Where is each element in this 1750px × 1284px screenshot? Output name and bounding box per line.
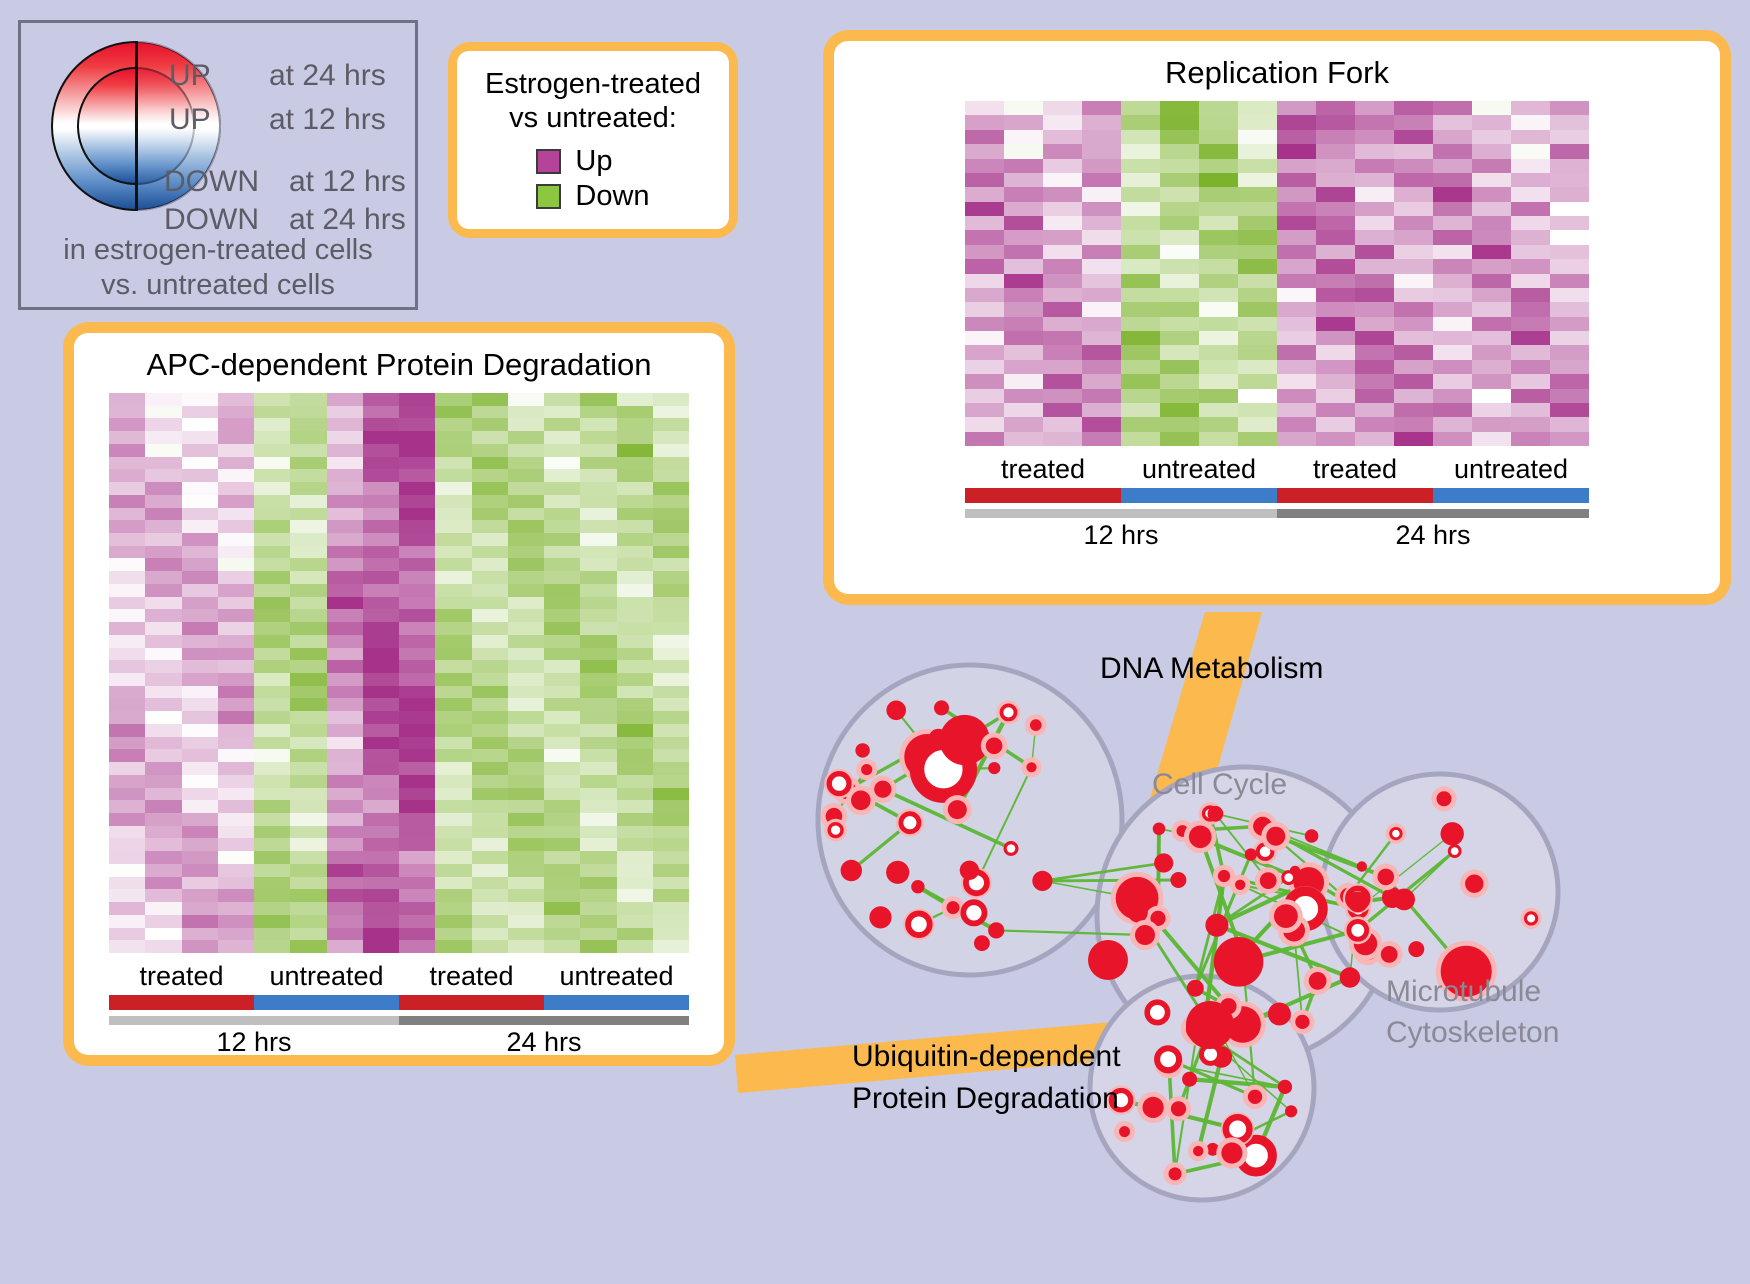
network-node[interactable]	[1208, 806, 1224, 822]
network-node[interactable]	[841, 860, 862, 881]
heatmap-apc-degradation	[109, 393, 689, 953]
network-node[interactable]	[1260, 872, 1277, 889]
network-node[interactable]	[1002, 705, 1016, 719]
network-node[interactable]	[901, 814, 919, 832]
network-node[interactable]	[911, 880, 924, 893]
bar-seg-2	[399, 995, 544, 1010]
network-node[interactable]	[1170, 872, 1186, 888]
replication-timepoint-labels: 12 hrs 24 hrs	[965, 520, 1589, 551]
network-node[interactable]	[1305, 829, 1319, 843]
network-node[interactable]	[1235, 880, 1245, 890]
network-node[interactable]	[1309, 972, 1327, 990]
up-color-swatch	[536, 149, 561, 174]
network-node[interactable]	[1236, 947, 1249, 960]
legend-down-24-label: DOWN	[164, 203, 259, 237]
network-node[interactable]	[1274, 904, 1298, 928]
bar-seg-1	[254, 995, 399, 1010]
estrogen-key-box: Estrogen-treated vs untreated: Up Down	[448, 42, 738, 238]
network-node[interactable]	[1295, 1015, 1309, 1029]
network-node[interactable]	[886, 701, 906, 721]
cluster-label-protein-degradation: Protein Degradation	[852, 1082, 1119, 1116]
legend-down-24-time: at 24 hrs	[289, 203, 406, 237]
apc-condition-bar	[109, 995, 689, 1010]
bar-seg-0	[109, 1016, 399, 1025]
network-node[interactable]	[1357, 861, 1367, 871]
replication-timepoint-bar	[965, 509, 1589, 518]
network-node[interactable]	[861, 764, 872, 775]
heatmap-replication-fork	[965, 101, 1589, 446]
cluster-label-ubiquitin-dependent: Ubiquitin-dependent	[852, 1040, 1121, 1074]
bar-seg-0	[965, 509, 1277, 518]
network-node[interactable]	[1221, 1142, 1242, 1163]
cluster-label-cytoskeleton: Cytoskeleton	[1386, 1016, 1559, 1050]
network-node[interactable]	[1526, 913, 1537, 924]
network-node[interactable]	[1349, 921, 1367, 939]
panel-replication-fork: Replication Fork treated untreated treat…	[823, 30, 1731, 605]
network-node[interactable]	[1032, 871, 1052, 891]
network-node[interactable]	[1408, 941, 1424, 957]
network-node[interactable]	[929, 729, 949, 749]
network-node[interactable]	[1205, 914, 1228, 937]
network-node[interactable]	[1348, 892, 1369, 913]
estrogen-key-title-line2: vs untreated:	[485, 101, 701, 135]
network-node[interactable]	[874, 781, 891, 798]
network-node[interactable]	[829, 774, 849, 794]
network-node[interactable]	[1266, 827, 1285, 846]
network-node[interactable]	[1171, 1101, 1186, 1116]
network-node[interactable]	[1135, 925, 1155, 945]
network-node[interactable]	[1153, 823, 1166, 836]
network-node[interactable]	[1189, 826, 1212, 849]
apc-time-label-12: 12 hrs	[109, 1027, 399, 1058]
network-node[interactable]	[1441, 822, 1464, 845]
network-node[interactable]	[1378, 869, 1395, 886]
network-node[interactable]	[1381, 946, 1398, 963]
cluster-label-cell-cycle: Cell Cycle	[1152, 768, 1287, 802]
pathway-network: DNA Metabolism Cell Cycle Microtubule Cy…	[790, 630, 1750, 1279]
network-node[interactable]	[947, 901, 960, 914]
legend-up-12-time: at 12 hrs	[269, 103, 386, 137]
figure-canvas: UP at 24 hrs UP at 12 hrs DOWN at 12 hrs…	[0, 0, 1750, 1279]
estrogen-key-title-line1: Estrogen-treated	[485, 67, 701, 101]
panel-replication-title: Replication Fork	[1165, 55, 1389, 91]
network-node[interactable]	[1437, 791, 1452, 806]
network-node[interactable]	[1186, 1001, 1234, 1049]
network-node[interactable]	[986, 738, 1003, 755]
network-svg	[790, 630, 1750, 1279]
gradient-legend-box: UP at 24 hrs UP at 12 hrs DOWN at 12 hrs…	[18, 20, 418, 310]
network-node[interactable]	[974, 935, 990, 951]
apc-time-label-24: 24 hrs	[399, 1027, 689, 1058]
network-node[interactable]	[948, 800, 967, 819]
network-node[interactable]	[1026, 762, 1036, 772]
network-node[interactable]	[1283, 872, 1295, 884]
network-node[interactable]	[908, 914, 930, 936]
network-node[interactable]	[1226, 1117, 1250, 1141]
network-node[interactable]	[869, 906, 891, 928]
estrogen-key-row-down: Down	[536, 180, 649, 213]
network-node[interactable]	[1268, 1003, 1291, 1026]
apc-cond-label-0: treated	[109, 961, 254, 992]
cond-label-1: untreated	[1121, 454, 1277, 485]
network-node[interactable]	[1030, 719, 1042, 731]
network-node[interactable]	[829, 824, 842, 837]
legend-down-12-time: at 12 hrs	[289, 165, 406, 199]
panel-apc-degradation: APC-dependent Protein Degradation treate…	[63, 322, 735, 1066]
apc-timepoint-bar	[109, 1016, 689, 1025]
network-node[interactable]	[1193, 1146, 1203, 1156]
down-color-swatch	[536, 184, 561, 209]
network-node[interactable]	[1169, 1167, 1182, 1180]
network-node[interactable]	[1248, 1090, 1262, 1104]
network-node[interactable]	[988, 922, 1004, 938]
estrogen-key-row-up: Up	[536, 145, 649, 178]
network-node[interactable]	[1393, 889, 1415, 911]
network-node[interactable]	[1245, 848, 1257, 860]
network-node[interactable]	[886, 861, 909, 884]
network-node[interactable]	[1088, 940, 1128, 980]
apc-cond-label-1: untreated	[254, 961, 399, 992]
bar-seg-3	[544, 995, 689, 1010]
legend-footer-line1: in estrogen-treated cells	[21, 233, 415, 268]
network-node[interactable]	[1005, 843, 1017, 855]
legend-up-24-label: UP	[169, 59, 211, 93]
bar-seg-0	[965, 488, 1121, 503]
network-node[interactable]	[1128, 903, 1148, 923]
network-node[interactable]	[988, 762, 1000, 774]
network-node[interactable]	[1154, 853, 1173, 872]
apc-cond-label-2: treated	[399, 961, 544, 992]
time-label-12: 12 hrs	[965, 520, 1277, 551]
apc-cond-label-3: untreated	[544, 961, 689, 992]
network-node[interactable]	[1157, 1048, 1179, 1070]
ring-divider-line	[135, 41, 138, 211]
time-label-24: 24 hrs	[1277, 520, 1589, 551]
network-node[interactable]	[1214, 937, 1264, 987]
bar-seg-2	[1277, 488, 1433, 503]
up-label: Up	[575, 145, 612, 178]
network-node[interactable]	[960, 861, 979, 880]
network-node[interactable]	[1285, 1105, 1297, 1117]
network-node[interactable]	[1187, 980, 1204, 997]
cond-label-3: untreated	[1433, 454, 1589, 485]
bar-seg-3	[1433, 488, 1589, 503]
cluster-label-microtubule: Microtubule	[1386, 975, 1541, 1009]
network-node[interactable]	[934, 700, 949, 715]
replication-condition-labels: treated untreated treated untreated	[965, 454, 1589, 485]
legend-up-12-label: UP	[169, 103, 211, 137]
network-node[interactable]	[1143, 1097, 1164, 1118]
bar-seg-1	[1121, 488, 1277, 503]
legend-footer: in estrogen-treated cells vs. untreated …	[21, 233, 415, 304]
panel-apc-title: APC-dependent Protein Degradation	[147, 347, 652, 383]
legend-up-24-time: at 24 hrs	[269, 59, 386, 93]
bar-seg-0	[109, 995, 254, 1010]
down-label: Down	[575, 180, 649, 213]
network-node[interactable]	[1182, 1072, 1197, 1087]
cluster-label-dna-metabolism: DNA Metabolism	[1100, 652, 1323, 686]
estrogen-key-title: Estrogen-treated vs untreated:	[485, 67, 701, 135]
legend-down-12-label: DOWN	[164, 165, 259, 199]
network-node[interactable]	[1340, 967, 1360, 987]
network-node[interactable]	[963, 902, 984, 923]
network-node[interactable]	[1147, 1002, 1167, 1022]
network-node[interactable]	[1218, 870, 1230, 882]
replication-condition-bar	[965, 488, 1589, 503]
bar-seg-1	[1277, 509, 1589, 518]
network-node[interactable]	[1449, 846, 1460, 857]
cluster-bubble-dna	[818, 665, 1122, 975]
apc-condition-labels: treated untreated treated untreated	[109, 961, 689, 992]
network-node[interactable]	[1119, 1126, 1130, 1137]
network-node[interactable]	[1465, 875, 1483, 893]
cond-label-2: treated	[1277, 454, 1433, 485]
legend-footer-line2: vs. untreated cells	[21, 268, 415, 303]
network-node[interactable]	[1278, 1080, 1292, 1094]
network-node[interactable]	[855, 743, 869, 757]
cond-label-0: treated	[965, 454, 1121, 485]
network-node[interactable]	[851, 791, 871, 811]
bar-seg-1	[399, 1016, 689, 1025]
apc-timepoint-labels: 12 hrs 24 hrs	[109, 1027, 689, 1058]
network-node[interactable]	[1391, 828, 1401, 838]
